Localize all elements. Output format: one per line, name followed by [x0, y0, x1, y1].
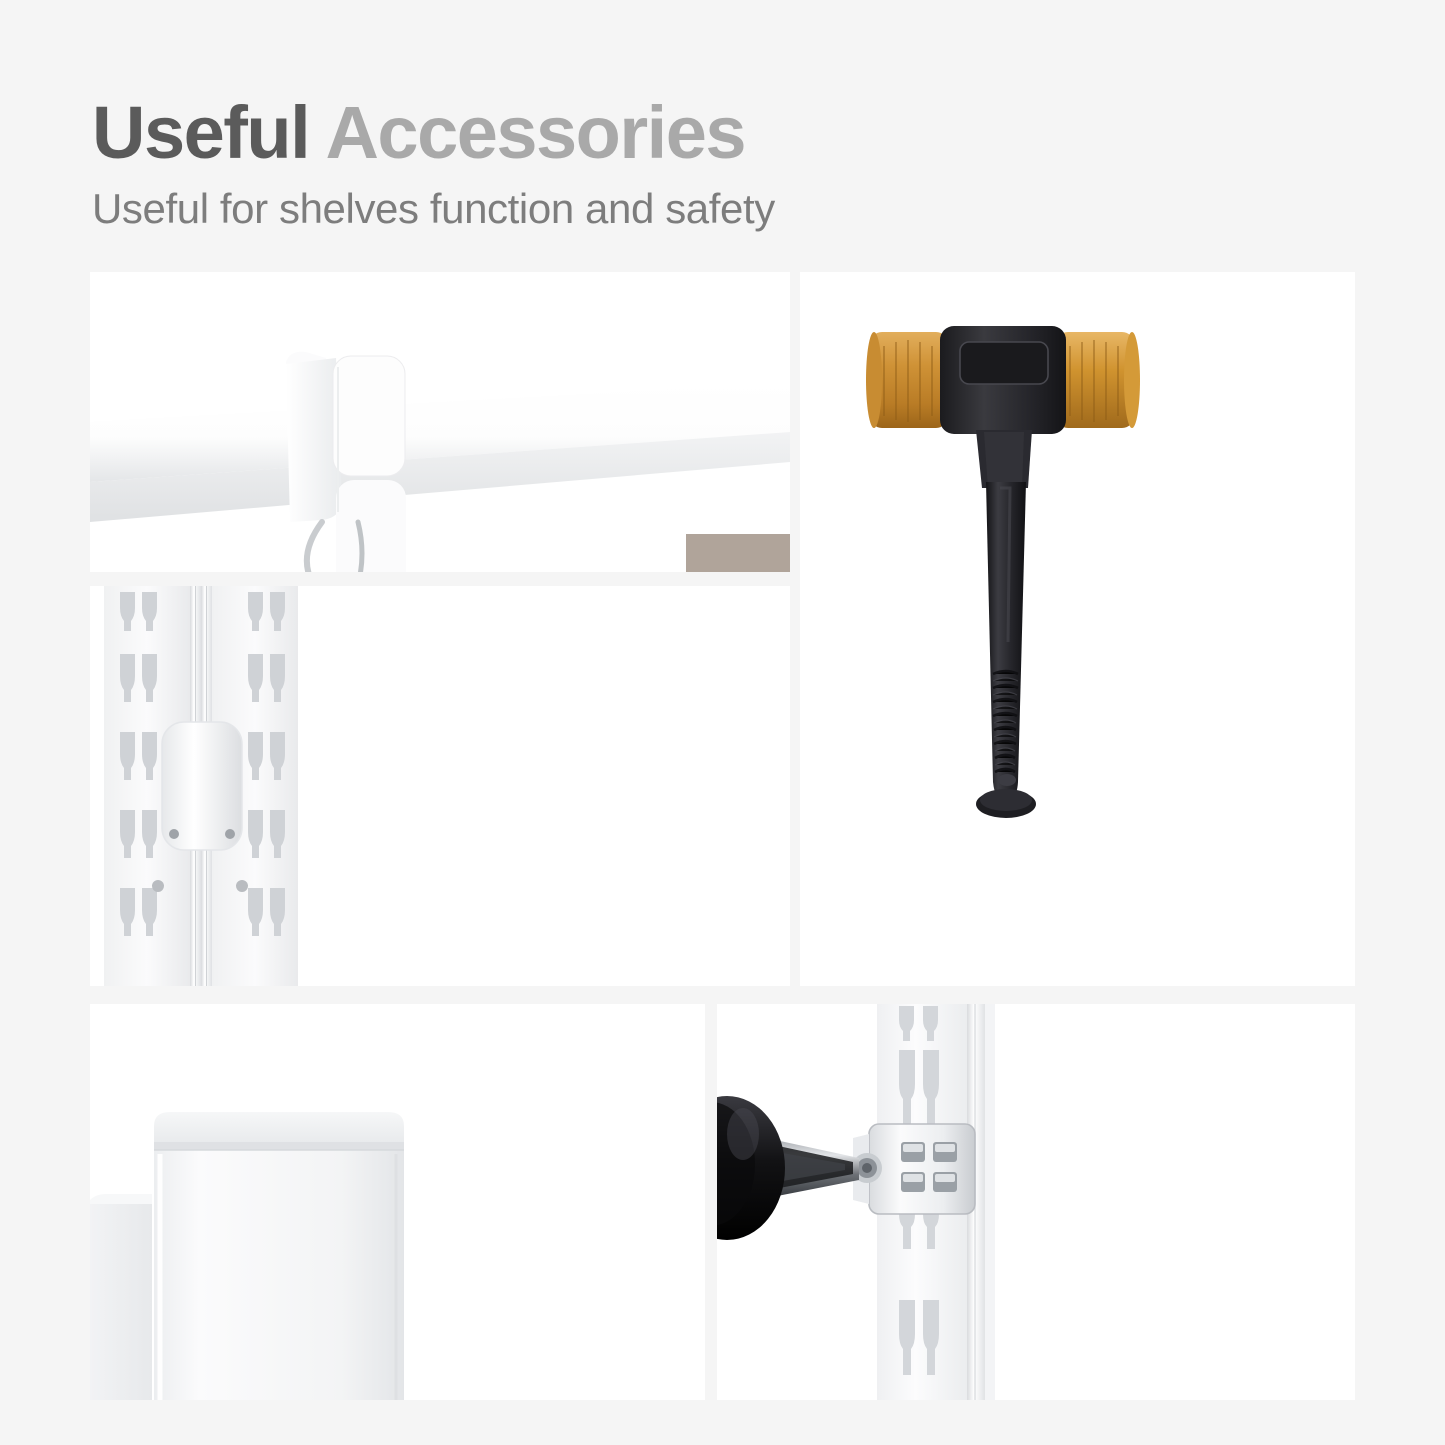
page-title-primary: Useful — [92, 91, 325, 174]
wall-fixing-bracket-photo — [717, 1004, 1355, 1400]
page-title-secondary: Accessories — [325, 91, 745, 174]
gift-box-icon — [710, 567, 790, 572]
page-header: Useful Accessories Useful for shelves fu… — [92, 96, 1352, 232]
card-double-mallet: Double Mallet Useful for easy assembly a… — [800, 272, 1355, 986]
gift-badge-c-hook — [686, 534, 790, 572]
card-wall-fixing-bracket: Wall-Fixing bracket To secure the module… — [717, 1004, 1355, 1400]
post-cap-photo — [90, 1004, 705, 1400]
page-title: Useful Accessories — [92, 96, 1352, 170]
card-post-fixing-clip: Post Fixing Clip Using two modules like … — [90, 586, 790, 986]
card-c-hook: C-Hook More efficient Organize — [90, 272, 790, 572]
page-subtitle: Useful for shelves function and safety — [92, 186, 1352, 232]
post-fixing-clip-photo — [90, 586, 790, 986]
double-mallet-photo — [860, 312, 1180, 952]
c-hook-photo — [90, 272, 790, 572]
card-post-cap: Post Cap To prevent scratches and damage — [90, 1004, 705, 1400]
